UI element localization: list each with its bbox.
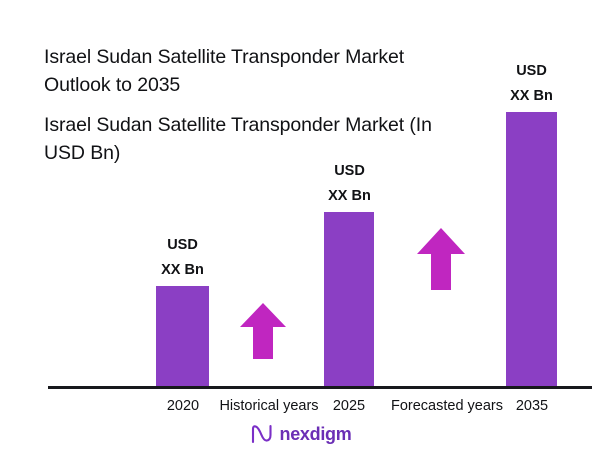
axis-baseline	[48, 386, 592, 389]
bar-label-2035-line1: USD	[476, 59, 587, 84]
bar-2025	[324, 212, 374, 387]
brand-logo: nexdigm	[0, 424, 602, 444]
axis-label-2025: 2025	[305, 396, 393, 416]
chart-infographic: Israel Sudan Satellite Transponder Marke…	[0, 0, 602, 451]
growth-arrow-forecast-icon	[417, 228, 465, 290]
bar-label-2020-line2: XX Bn	[126, 258, 239, 283]
nexdigm-wave-icon	[251, 424, 273, 444]
bar-2020	[156, 286, 209, 387]
bar-label-2020: USD XX Bn	[126, 233, 239, 283]
growth-arrow-historical-icon	[240, 303, 286, 359]
axis-label-2035: 2035	[488, 396, 576, 416]
bar-label-2025-line1: USD	[294, 159, 405, 184]
bar-label-2035: USD XX Bn	[476, 59, 587, 109]
bar-chart: USD XX Bn USD XX Bn USD XX Bn 2020 Histo…	[0, 0, 602, 451]
bar-label-2035-line2: XX Bn	[476, 84, 587, 109]
bar-2035	[506, 112, 557, 387]
brand-name: nexdigm	[280, 424, 352, 444]
bar-label-2025-line2: XX Bn	[294, 184, 405, 209]
bar-label-2020-line1: USD	[126, 233, 239, 258]
bar-label-2025: USD XX Bn	[294, 159, 405, 209]
